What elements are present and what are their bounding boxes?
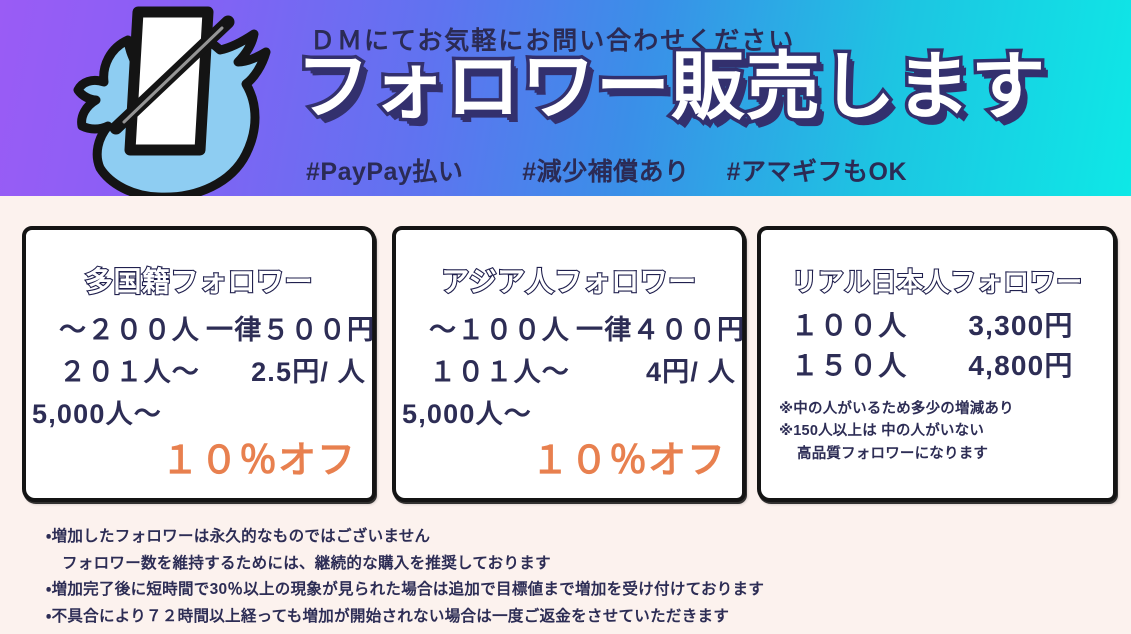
price-quantity: 5,000人〜: [32, 392, 212, 431]
price-row: １０１人〜 4円/ 人: [396, 350, 742, 392]
price-table: 〜２００人 一律５００円 ２０１人〜 2.5円/ 人 5,000人〜: [26, 308, 372, 434]
card-title: リアル日本人フォロワー: [761, 262, 1113, 299]
price-value: 3,300円: [937, 304, 1105, 344]
footer-line: ・増加したフォロワーは永久的なものではございません: [46, 524, 1106, 551]
pricing-card-multinational: 多国籍フォロワー 〜２００人 一律５００円 ２０１人〜 2.5円/ 人 5,00…: [22, 226, 376, 502]
price-row: 5,000人〜: [396, 392, 742, 434]
discount-badge: １０％オフ: [161, 429, 356, 484]
price-value: 一律５００円: [206, 308, 366, 347]
promo-poster: ＤＭにてお気軽にお問い合わせください フォロワー販売します #PayPay払い …: [0, 0, 1131, 634]
card-note: ※150人以上は 中の人がいない: [779, 420, 1014, 442]
card-note: ※中の人がいるため多少の増減あり: [779, 398, 1014, 420]
price-row: １００人 3,300円: [761, 304, 1113, 344]
header-banner: ＤＭにてお気軽にお問い合わせください フォロワー販売します #PayPay払い …: [0, 0, 1131, 196]
price-value: 4円/ 人: [576, 350, 736, 389]
hashtag-amazon-gift: #アマギフもOK: [727, 158, 907, 186]
card-title: 多国籍フォロワー: [26, 260, 372, 300]
twitter-x-bird-icon: [32, 4, 302, 196]
price-quantity: 〜２００人: [32, 308, 200, 347]
pricing-card-real-japanese: リアル日本人フォロワー １００人 3,300円 １５０人 4,800円 ※中の人…: [757, 226, 1117, 502]
price-row: ２０１人〜 2.5円/ 人: [26, 350, 372, 392]
price-value: 2.5円/ 人: [206, 350, 366, 389]
page-title: フォロワー販売します: [296, 50, 1046, 124]
card-note: 高品質フォロワーになります: [779, 443, 1014, 465]
footer-terms: ・増加したフォロワーは永久的なものではございません フォロワー数を維持するために…: [46, 524, 1106, 631]
price-quantity: 5,000人〜: [402, 392, 582, 431]
price-table: 〜１００人 一律４００円 １０１人〜 4円/ 人 5,000人〜: [396, 308, 742, 434]
header-text-block: ＤＭにてお気軽にお問い合わせください フォロワー販売します #PayPay払い …: [296, 0, 1131, 196]
pricing-cards: 多国籍フォロワー 〜２００人 一律５００円 ２０１人〜 2.5円/ 人 5,00…: [0, 196, 1131, 516]
price-quantity: １００人: [779, 304, 919, 344]
card-title: アジア人フォロワー: [396, 260, 742, 300]
price-row: 5,000人〜: [26, 392, 372, 434]
footer-line: ・不具合により７２時間以上経っても増加が開始されない場合は一度ご返金をさせていた…: [46, 604, 1106, 631]
price-value: 4,800円: [937, 344, 1105, 384]
price-value: 一律４００円: [576, 308, 736, 347]
card-notes: ※中の人がいるため多少の増減あり ※150人以上は 中の人がいない 高品質フォロ…: [779, 398, 1014, 465]
price-row: 〜１００人 一律４００円: [396, 308, 742, 350]
price-row: １５０人 4,800円: [761, 344, 1113, 384]
price-table: １００人 3,300円 １５０人 4,800円: [761, 304, 1113, 384]
hashtag-row: #PayPay払い #減少補償あり #アマギフもOK: [306, 152, 907, 188]
price-quantity: ２０１人〜: [32, 350, 200, 389]
footer-line: フォロワー数を維持するためには、継続的な購入を推奨しております: [46, 551, 1106, 578]
price-row: 〜２００人 一律５００円: [26, 308, 372, 350]
price-quantity: １０１人〜: [402, 350, 570, 389]
price-quantity: 〜１００人: [402, 308, 570, 347]
discount-badge: １０％オフ: [531, 429, 726, 484]
pricing-card-asian: アジア人フォロワー 〜１００人 一律４００円 １０１人〜 4円/ 人 5,000…: [392, 226, 746, 502]
price-quantity: １５０人: [779, 344, 919, 384]
footer-line: ・増加完了後に短時間で30％以上の現象が見られた場合は追加で目標値まで増加を受け…: [46, 577, 1106, 604]
hashtag-paypay: #PayPay払い: [306, 158, 463, 186]
hashtag-compensation: #減少補償あり: [522, 158, 689, 186]
